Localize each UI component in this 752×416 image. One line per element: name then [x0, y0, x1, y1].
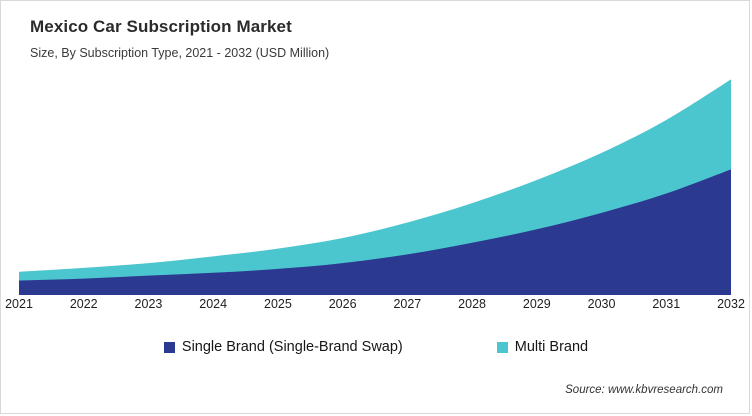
x-axis-tick-2026: 2026 — [329, 297, 357, 311]
legend-item-multi-brand[interactable]: Multi Brand — [497, 339, 588, 355]
chart-subtitle: Size, By Subscription Type, 2021 - 2032 … — [30, 46, 329, 60]
x-axis-tick-2022: 2022 — [70, 297, 98, 311]
x-axis-tick-2024: 2024 — [199, 297, 227, 311]
legend-item-single-brand[interactable]: Single Brand (Single-Brand Swap) — [164, 339, 403, 355]
stacked-area-plot — [19, 63, 731, 295]
x-axis-tick-2021: 2021 — [5, 297, 33, 311]
x-axis-tick-2027: 2027 — [393, 297, 421, 311]
x-axis-tick-2032: 2032 — [717, 297, 745, 311]
x-axis-tick-2023: 2023 — [135, 297, 163, 311]
legend-swatch-single-brand — [164, 342, 175, 353]
x-axis-tick-2028: 2028 — [458, 297, 486, 311]
legend-label-multi-brand: Multi Brand — [515, 339, 588, 355]
x-axis-tick-2025: 2025 — [264, 297, 292, 311]
area-chart-svg — [19, 63, 731, 295]
x-axis: 2021202220232024202520262027202820292030… — [19, 297, 731, 319]
source-attribution: Source: www.kbvresearch.com — [565, 384, 723, 396]
legend-label-single-brand: Single Brand (Single-Brand Swap) — [182, 339, 403, 355]
x-axis-tick-2029: 2029 — [523, 297, 551, 311]
chart-title: Mexico Car Subscription Market — [30, 17, 292, 37]
chart-legend: Single Brand (Single-Brand Swap) Multi B… — [1, 339, 751, 355]
chart-card: Mexico Car Subscription Market Size, By … — [0, 0, 750, 414]
x-axis-tick-2030: 2030 — [588, 297, 616, 311]
x-axis-tick-2031: 2031 — [652, 297, 680, 311]
legend-swatch-multi-brand — [497, 342, 508, 353]
